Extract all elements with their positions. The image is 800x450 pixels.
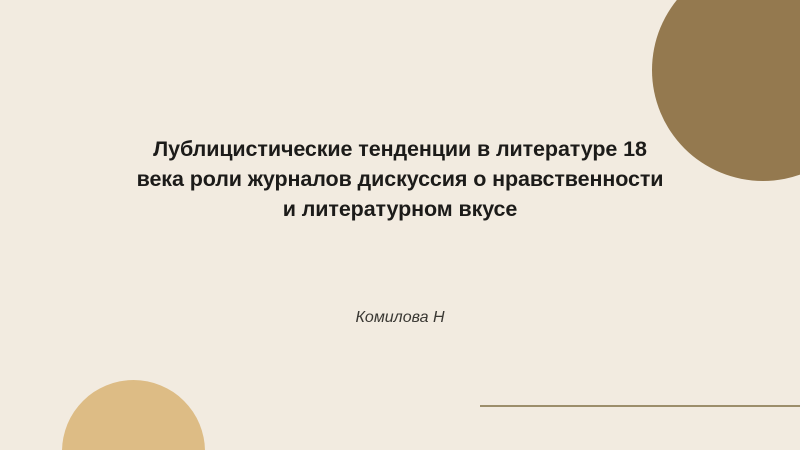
- slide-subtitle-author: Комилова Н: [200, 307, 600, 329]
- title-slide: Лублицистические тенденции в литературе …: [0, 0, 800, 450]
- slide-title: Лублицистические тенденции в литературе …: [130, 134, 670, 224]
- slide-text-layer: Лублицистические тенденции в литературе …: [0, 0, 800, 450]
